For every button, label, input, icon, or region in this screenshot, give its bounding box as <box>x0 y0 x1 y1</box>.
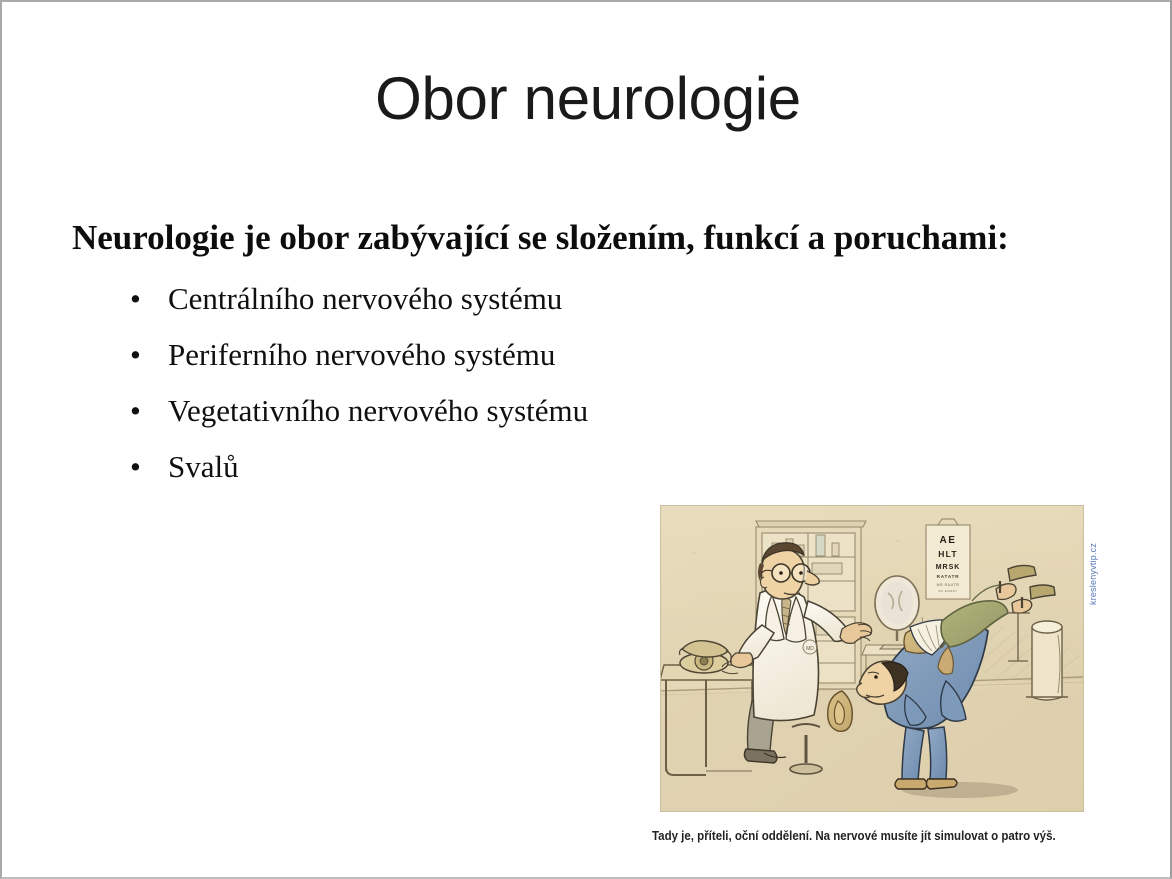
bullet-dot-icon: • <box>130 327 141 383</box>
svg-text:RO ESIRRY: RO ESIRRY <box>939 589 958 593</box>
lead-paragraph: Neurologie je obor zabývající se složení… <box>64 214 1104 261</box>
list-item-label: Svalů <box>168 449 239 484</box>
svg-text:MRSK: MRSK <box>936 564 961 571</box>
lead-paragraph-text: Neurologie je obor zabývající se složení… <box>64 214 1104 261</box>
list-item-label: Vegetativního nervového systému <box>168 393 588 428</box>
svg-text:RATATR: RATATR <box>937 574 960 579</box>
list-item-label: Centrálního nervového systému <box>168 281 562 316</box>
cartoon-eye-clinic-image: AE HLT MRSK RATATR MR RAUTR RO ESIRRY <box>660 505 1084 812</box>
list-item: • Svalů <box>64 439 1104 495</box>
list-item: • Centrálního nervového systému <box>64 271 1104 327</box>
bullet-dot-icon: • <box>130 271 141 327</box>
page-title: Obor neurologie <box>2 64 1172 134</box>
bullet-dot-icon: • <box>130 439 141 495</box>
svg-text:MR RAUTR: MR RAUTR <box>937 583 960 587</box>
list-item: • Vegetativního nervového systému <box>64 383 1104 439</box>
list-item-label: Periferního nervového systému <box>168 337 555 372</box>
slide: Obor neurologie Neurologie je obor zabýv… <box>0 0 1172 879</box>
slide-body: Neurologie je obor zabývající se složení… <box>64 214 1104 495</box>
svg-text:MD: MD <box>806 646 814 652</box>
svg-text:AE: AE <box>940 535 957 546</box>
watermark-label: kreslenyvtip.cz <box>1088 509 1102 605</box>
bullet-list: • Centrálního nervového systému • Perife… <box>64 271 1104 495</box>
bullet-dot-icon: • <box>130 383 141 439</box>
figure-caption: Tady je, příteli, oční oddělení. Na nerv… <box>652 828 1075 844</box>
cartoon-figure: AE HLT MRSK RATATR MR RAUTR RO ESIRRY <box>660 505 1084 812</box>
svg-text:HLT: HLT <box>938 549 958 559</box>
list-item: • Periferního nervového systému <box>64 327 1104 383</box>
